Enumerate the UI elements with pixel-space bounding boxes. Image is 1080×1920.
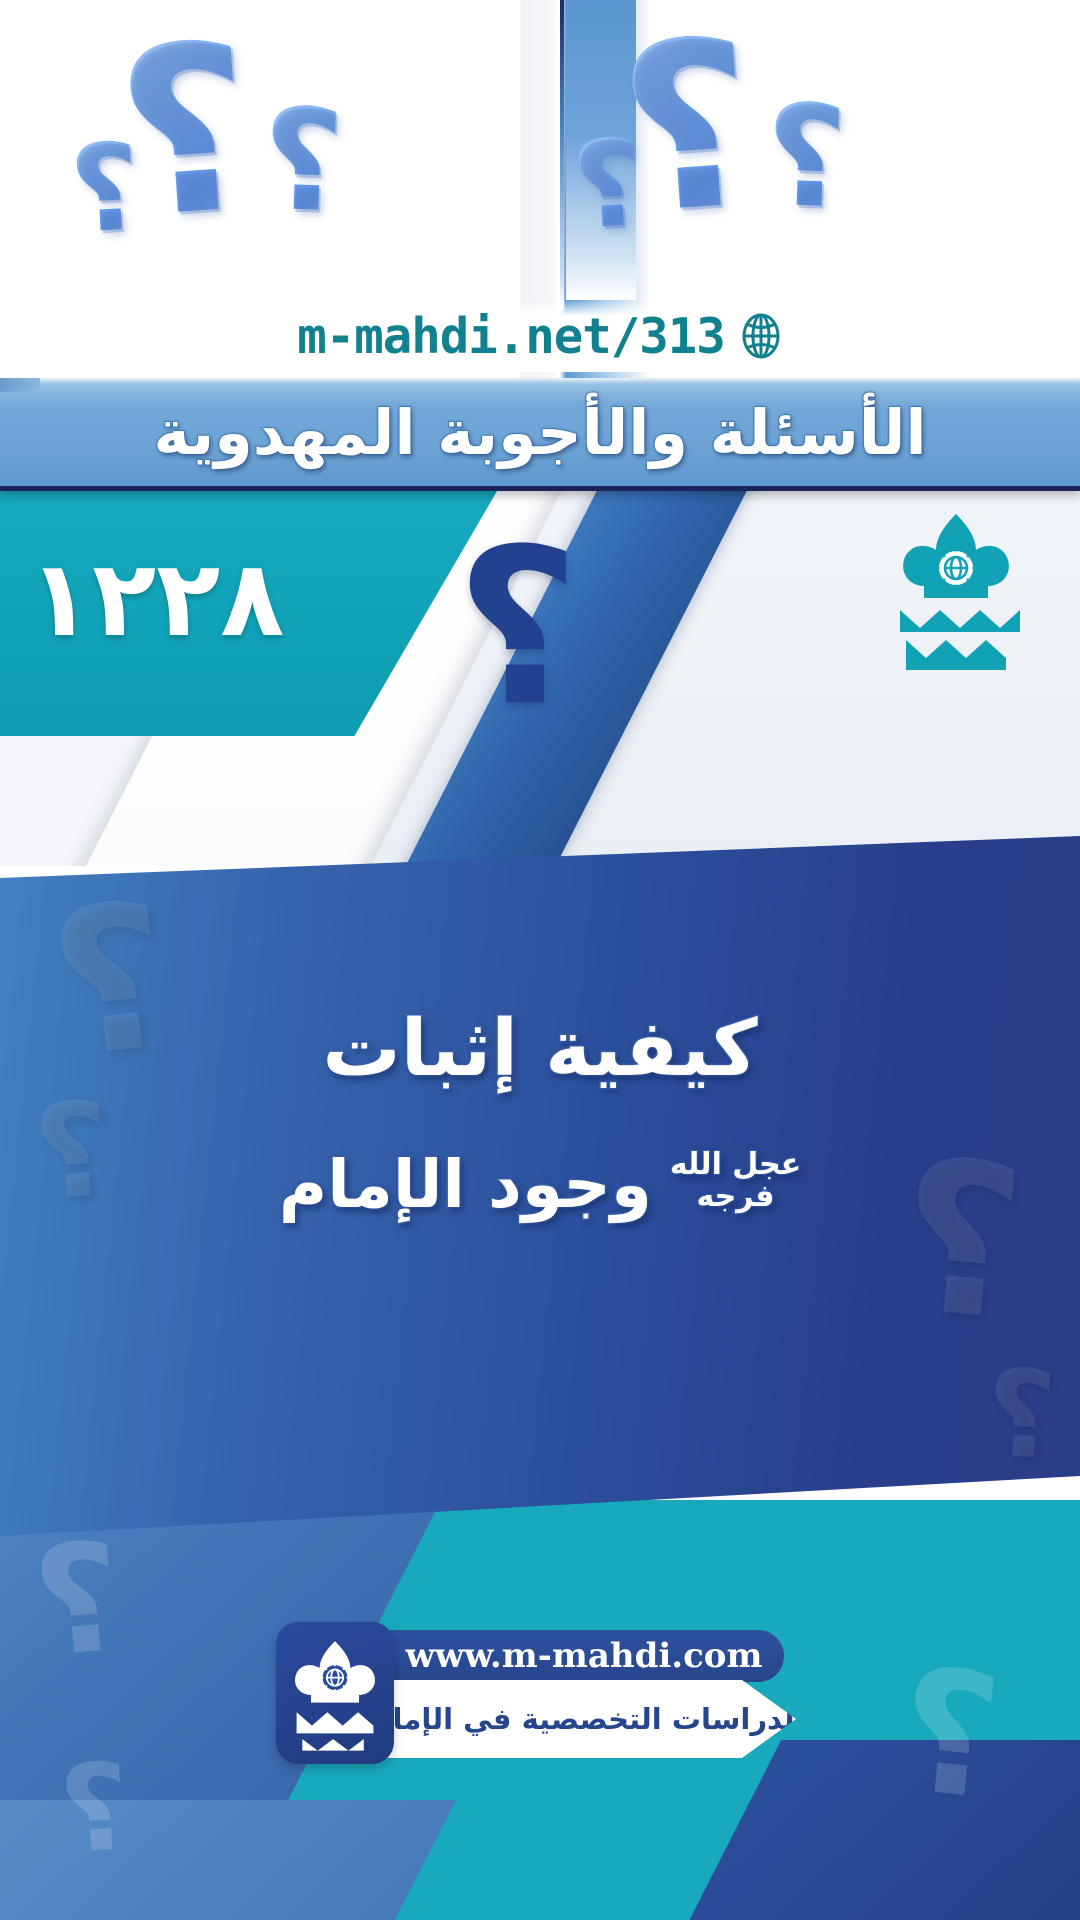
globe-icon: [739, 313, 783, 359]
question-line-2-text: وجود الإمام: [279, 1146, 652, 1223]
footer-question-mark-icon: ؟: [28, 1522, 128, 1679]
footer-navy-shape-right: [659, 1740, 1080, 1920]
question-panel: ؟ ؟ ؟ ؟ كيفية إثبات عجل الله فرجه وجود ا…: [0, 836, 1080, 1536]
footer-question-mark-icon: ؟: [56, 1748, 134, 1873]
center-emblem-icon: [880, 506, 1032, 696]
footer-scroll-banner: www.m-mahdi.com مركز الدراسات التخصصية ف…: [384, 1622, 804, 1764]
question-mark-icon: ؟: [455, 520, 580, 735]
poster-root: ؟ ؟ ؟ ؟ ؟ ؟ m-mahdi.net/313 الأسئلة والأ…: [0, 0, 1080, 1920]
footer-center-name-ribbon: مركز الدراسات التخصصية في الإمام المهدي: [376, 1680, 796, 1758]
imam-honorific-text: عجل الله فرجه: [670, 1149, 801, 1212]
question-line-2-row: عجل الله فرجه وجود الإمام: [0, 1146, 1080, 1223]
footer-website-text: www.m-mahdi.com: [406, 1636, 763, 1676]
background-question-mark-icon: ؟: [983, 1354, 1059, 1477]
decorative-question-mark-icon: ؟: [67, 128, 143, 251]
honorific-line-2: فرجه: [670, 1181, 801, 1213]
decorative-question-mark-icon: ؟: [260, 91, 346, 234]
footer-zone: ؟ ؟ ؟: [0, 1500, 1080, 1920]
logo-emblem-icon: [287, 1634, 383, 1752]
footer-logo-group[interactable]: www.m-mahdi.com مركز الدراسات التخصصية ف…: [276, 1622, 804, 1764]
honorific-line-1: عجل الله: [670, 1149, 801, 1181]
decorative-question-mark-icon: ؟: [763, 87, 849, 230]
series-title-text: الأسئلة والأجوبة المهدوية: [153, 396, 926, 469]
issue-band: ١٢٢٨ ؟: [0, 486, 1080, 866]
series-title-banner: الأسئلة والأجوبة المهدوية: [0, 378, 1080, 486]
decorative-question-mark-icon: ؟: [569, 124, 645, 247]
question-line-1: كيفية إثبات: [0, 1004, 1080, 1094]
issue-number-text: ١٢٢٨: [28, 538, 284, 660]
footer-website-bar[interactable]: www.m-mahdi.com: [384, 1630, 784, 1682]
top-divider-line: [560, 0, 564, 310]
mahdi-center-logo-icon: [276, 1622, 394, 1764]
site-url-text: m-mahdi.net/313: [297, 308, 725, 365]
site-url-row[interactable]: m-mahdi.net/313: [0, 300, 1080, 372]
footer-question-mark-icon: ؟: [891, 1645, 1007, 1824]
